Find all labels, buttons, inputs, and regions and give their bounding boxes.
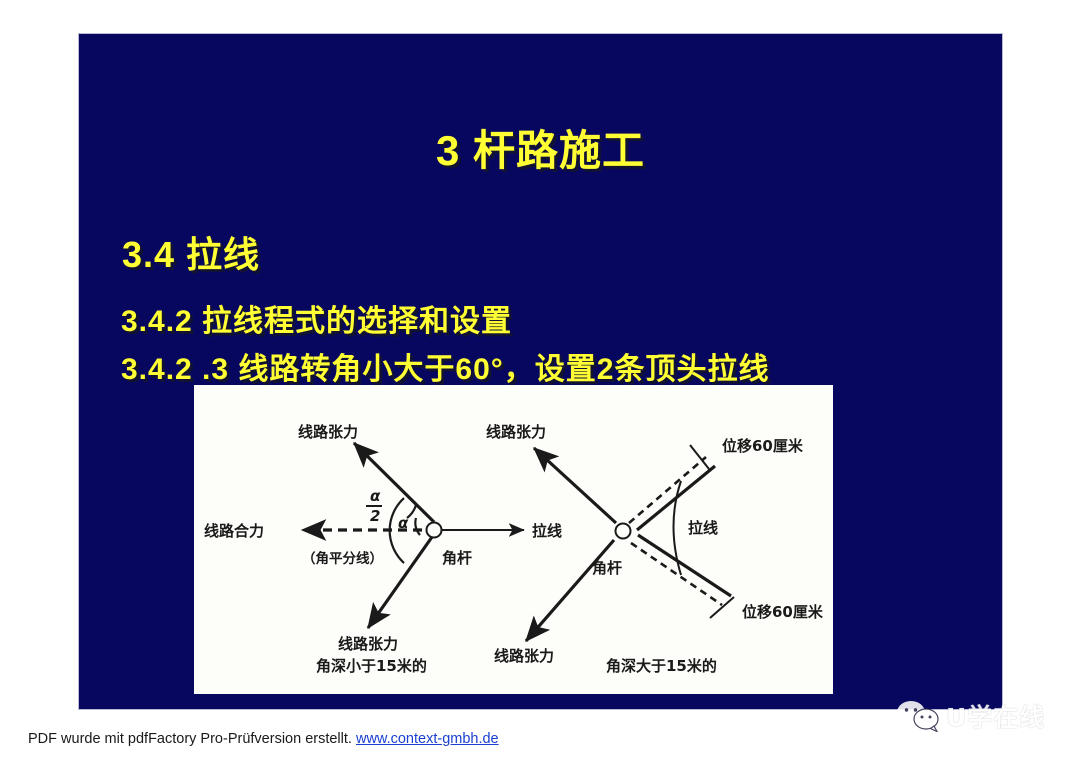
- diagram-svg: α 2 α 线路张力 线路合力 （角平分线） 角杆 拉线 线路张力 角深小于15…: [194, 385, 833, 694]
- right-guy-wire-label: 拉线: [688, 519, 718, 537]
- left-tension-bottom-label: 线路张力: [338, 635, 398, 653]
- left-resultant-force-label: 线路合力: [204, 522, 264, 540]
- left-angle-half-denominator: 2: [370, 507, 380, 525]
- watermark-text: U学在线: [946, 698, 1045, 734]
- right-diagram-group: 线路张力 位移60厘米 拉线 角杆 位移60厘米 线路张力 角深大于15米的: [486, 423, 824, 675]
- subsection-heading-3-4-2: 3.4.2 拉线程式的选择和设置: [121, 296, 512, 340]
- right-pole-label: 角杆: [592, 559, 622, 577]
- left-guy-wire-label: 拉线: [532, 522, 562, 540]
- left-angle-bisector-label: （角平分线）: [302, 550, 383, 567]
- footer-link[interactable]: www.context-gmbh.de: [356, 731, 499, 747]
- left-diagram-group: α 2 α 线路张力 线路合力 （角平分线） 角杆 拉线 线路张力 角深小于15…: [204, 423, 562, 675]
- left-diagram-caption: 角深小于15米的: [316, 657, 427, 675]
- right-displacement-bottom-label: 位移60厘米: [742, 603, 824, 621]
- left-pole-label: 角杆: [442, 549, 472, 567]
- guy-wire-diagram-figure: α 2 α 线路张力 线路合力 （角平分线） 角杆 拉线 线路张力 角深小于15…: [194, 385, 833, 694]
- right-displacement-top-label: 位移60厘米: [722, 437, 804, 455]
- footer-text: PDF wurde mit pdfFactory Pro-Prüfversion…: [28, 731, 352, 747]
- right-tension-bottom-label: 线路张力: [494, 647, 554, 665]
- item-heading-3-4-2-3: 3.4.2 .3 线路转角小大于60°，设置2条顶头拉线: [121, 344, 769, 388]
- left-angle-half-numerator: α: [370, 487, 381, 505]
- left-angle-full-label: α: [398, 514, 409, 532]
- wechat-icon: [896, 700, 940, 732]
- slide-canvas: 3 杆路施工 3.4 拉线 3.4.2 拉线程式的选择和设置 3.4.2 .3 …: [78, 33, 1003, 710]
- left-tension-top-label: 线路张力: [298, 423, 358, 441]
- slide-title: 3 杆路施工: [79, 117, 1002, 178]
- watermark: U学在线: [896, 698, 1045, 734]
- pdf-footer-notice: PDF wurde mit pdfFactory Pro-Prüfversion…: [28, 731, 499, 747]
- right-diagram-caption: 角深大于15米的: [606, 657, 717, 675]
- right-tension-top-label: 线路张力: [486, 423, 546, 441]
- section-heading-3-4: 3.4 拉线: [122, 226, 260, 278]
